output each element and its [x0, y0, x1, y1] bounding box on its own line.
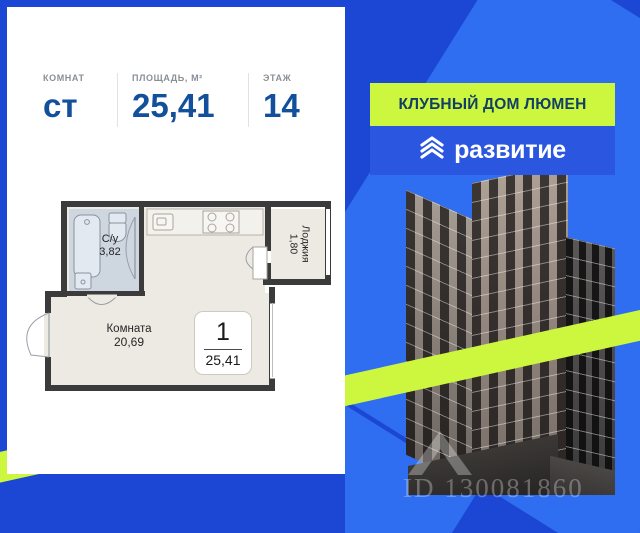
bathroom-label: С/у 3,82 — [79, 233, 141, 258]
stat-floor: ЭТАЖ 14 — [263, 73, 311, 122]
project-name-label: КЛУБНЫЙ ДОМ ЛЮМЕН — [399, 96, 587, 114]
bathroom-area: 3,82 — [79, 246, 141, 259]
stat-divider-2 — [248, 73, 249, 127]
stat-rooms: КОМНАТ ст — [43, 73, 103, 122]
stat-floor-label: ЭТАЖ — [263, 73, 291, 83]
stat-rooms-value: ст — [43, 89, 78, 122]
chevron-stack-icon — [419, 136, 445, 165]
stat-area: ПЛОЩАДЬ, М² 25,41 — [132, 73, 234, 122]
loggia-name: Лоджия — [300, 225, 312, 262]
floor-plan: С/у 3,82 Комната 20,69 Лоджия 1,80 1 25,… — [43, 197, 319, 397]
living-room-area: 20,69 — [81, 336, 177, 350]
badge-divider — [204, 349, 242, 350]
apartment-type-badge: 1 25,41 — [194, 311, 252, 375]
project-name-banner: КЛУБНЫЙ ДОМ ЛЮМЕН — [370, 83, 615, 126]
bathroom-name: С/у — [79, 233, 141, 246]
watermark-id-label: ID 130081860 — [403, 473, 584, 504]
loggia-label: Лоджия 1,80 — [271, 213, 329, 275]
watermark: ID 130081860 — [395, 425, 640, 515]
screenshot-root: КЛУБНЫЙ ДОМ ЛЮМЕН развитие ID 130081860 — [0, 0, 640, 533]
loggia-area: 1,80 — [288, 225, 300, 262]
stat-area-value: 25,41 — [132, 89, 215, 122]
floorplan-card: КОМНАТ ст ПЛОЩАДЬ, М² 25,41 ЭТАЖ 14 — [7, 7, 345, 474]
apartment-stats: КОМНАТ ст ПЛОЩАДЬ, М² 25,41 ЭТАЖ 14 — [43, 73, 311, 127]
badge-total-area: 25,41 — [205, 353, 240, 367]
stat-rooms-label: КОМНАТ — [43, 73, 85, 83]
stat-floor-value: 14 — [263, 89, 300, 122]
living-room-label: Комната 20,69 — [81, 323, 177, 350]
developer-logo-block: КЛУБНЫЙ ДОМ ЛЮМЕН развитие — [370, 83, 615, 175]
stat-divider-1 — [117, 73, 118, 127]
badge-room-count: 1 — [216, 320, 230, 345]
developer-brand-bar: развитие — [370, 126, 615, 175]
developer-name-label: развитие — [454, 136, 566, 165]
stat-area-label: ПЛОЩАДЬ, М² — [132, 73, 203, 83]
